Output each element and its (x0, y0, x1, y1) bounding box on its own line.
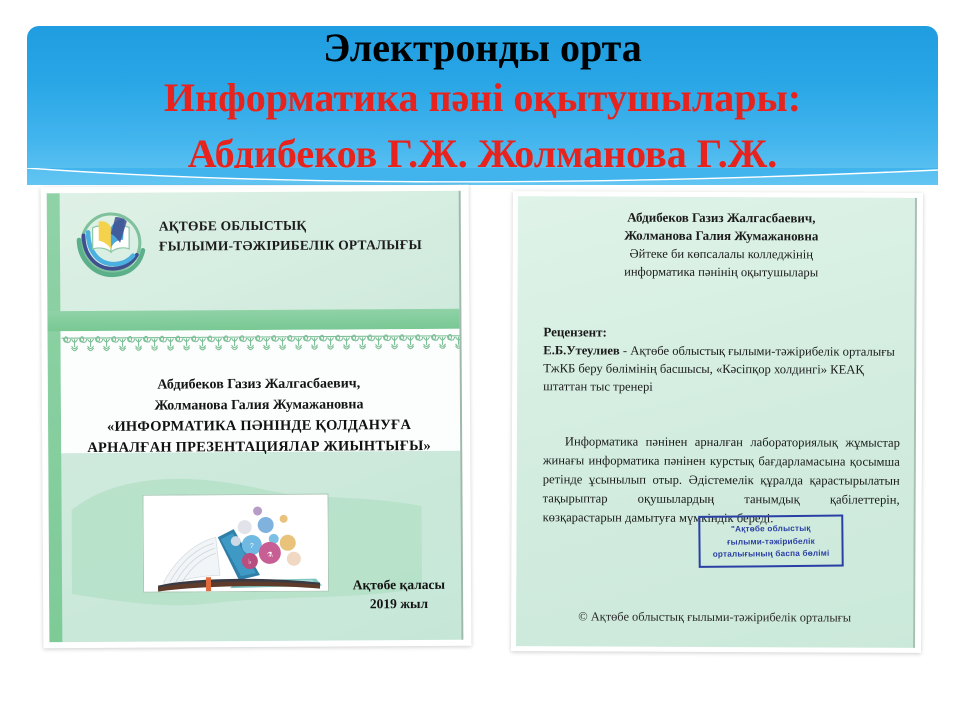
open-book-circle-logo (73, 205, 149, 281)
left-document-photo[interactable]: АҚТӨБЕ ОБЛЫСТЫҚ ҒЫЛЫМИ-ТӘЖІРИБЕЛІК ОРТАЛ… (41, 185, 472, 649)
right-authors-block: Абдибеков Газиз Жалгасбаевич, Жолманова … (548, 208, 895, 282)
left-authors: Абдибеков Газиз Жалгасбаевич, Жолманова … (62, 373, 456, 417)
slide-canvas: Электронды орта Информатика пәні оқытушы… (0, 0, 960, 720)
reviewer-details: Е.Б.Утеулиев - Ақтөбе облыстық ғылыми-тә… (543, 342, 898, 397)
left-year: 2019 жыл (353, 594, 445, 614)
left-page-green-band (47, 309, 459, 332)
page-title: Электронды орта (27, 28, 938, 69)
left-book-title: «ИНФОРМАТИКА ПӘНІНДЕ ҚОЛДАНУҒА АРНАЛҒАН … (62, 415, 456, 459)
header-banner: Электронды орта Информатика пәні оқытушы… (27, 26, 938, 185)
right-document-page: Абдибеков Газиз Жалгасбаевич, Жолманова … (516, 196, 917, 648)
left-organization-name: АҚТӨБЕ ОБЛЫСТЫҚ ҒЫЛЫМИ-ТӘЖІРИБЕЛІК ОРТАЛ… (159, 215, 459, 256)
banner-subtitle-line-2: Абдибеков Г.Ж. Жолманова Г.Ж. (27, 134, 938, 175)
book-laptop-illustration: ? ⚗ ♭ (142, 494, 329, 593)
left-organization-line-2: ҒЫЛЫМИ-ТӘЖІРИБЕЛІК ОРТАЛЫҒЫ (159, 234, 459, 255)
banner-subtitle-line-1: Информатика пәні оқытушылары: (27, 78, 938, 119)
ornamental-border (61, 333, 461, 357)
left-document-page: АҚТӨБЕ ОБЛЫСТЫҚ ҒЫЛЫМИ-ТӘЖІРИБЕЛІК ОРТАЛ… (47, 191, 464, 643)
left-author-line-2: Жолманова Галия Жумажановна (62, 394, 456, 417)
right-affiliation-line-1: Әйтеке би көпсалалы колледжінің (548, 245, 895, 264)
reviewer-heading: Рецензент: (543, 324, 607, 340)
right-author-line-2: Жолманова Галия Жумажановна (548, 227, 895, 247)
left-city: Ақтөбе қаласы (353, 575, 445, 595)
book-annotation: Информатика пәнінен арналған лаборатория… (543, 432, 900, 528)
copyright-notice: © Ақтөбе облыстық ғылыми-тәжірибелік орт… (516, 609, 913, 626)
svg-text:⚗: ⚗ (267, 551, 273, 559)
left-book-title-line-2: АРНАЛҒАН ПРЕЗЕНТАЦИЯЛАР ЖИЫНТЫҒЫ» (62, 436, 456, 459)
publishing-department-stamp: "Ақтөбе облыстық ғылыми-тәжірибелік орта… (698, 515, 843, 568)
svg-text:?: ? (250, 543, 254, 550)
right-affiliation-line-2: информатика пәнінің оқытушылары (548, 263, 895, 282)
left-city-and-year: Ақтөбе қаласы 2019 жыл (353, 575, 446, 615)
stamp-line-3: орталығының баспа бөлімі (701, 548, 842, 562)
left-book-title-line-1: «ИНФОРМАТИКА ПӘНІНДЕ ҚОЛДАНУҒА (62, 415, 456, 438)
right-document-photo[interactable]: Абдибеков Газиз Жалгасбаевич, Жолманова … (511, 191, 923, 653)
left-page-green-stripe (47, 193, 63, 642)
left-author-line-1: Абдибеков Газиз Жалгасбаевич, (62, 373, 456, 396)
left-organization-line-1: АҚТӨБЕ ОБЛЫСТЫҚ (159, 215, 459, 236)
svg-text:♭: ♭ (248, 558, 251, 566)
right-author-line-1: Абдибеков Газиз Жалгасбаевич, (548, 208, 895, 228)
reviewer-name: Е.Б.Утеулиев (543, 343, 619, 357)
